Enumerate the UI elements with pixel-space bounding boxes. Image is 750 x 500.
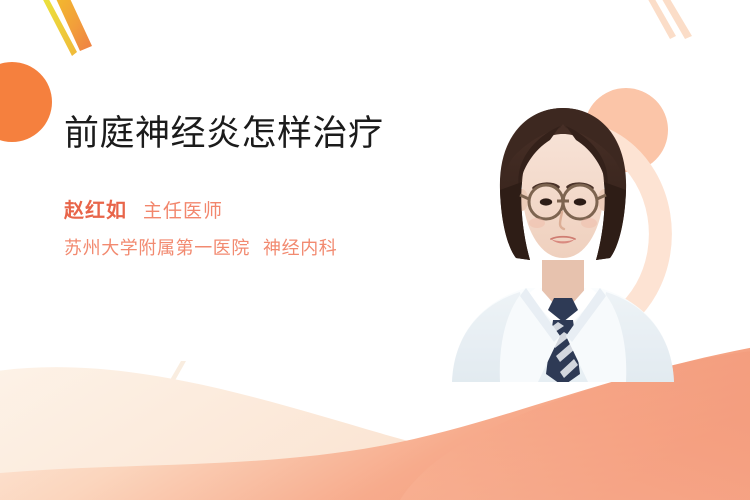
hospital-name: 苏州大学附属第一医院	[64, 234, 250, 260]
doctor-portrait-illustration	[438, 82, 688, 382]
doctor-portrait	[438, 82, 688, 382]
hospital-line: 苏州大学附属第一医院 神经内科	[64, 234, 424, 260]
top-right-peach-stripes-icon	[645, 0, 692, 39]
doctor-professional-title: 主任医师	[143, 196, 223, 223]
doctor-name: 赵红如	[64, 194, 127, 223]
text-block: 前庭神经炎怎样治疗 赵红如 主任医师 苏州大学附属第一医院 神经内科	[64, 112, 424, 260]
doctor-article-cover-card: 前庭神经炎怎样治疗 赵红如 主任医师 苏州大学附属第一医院 神经内科	[0, 0, 750, 500]
department-name: 神经内科	[263, 234, 337, 260]
left-orange-circle-icon	[0, 62, 52, 142]
page-title: 前庭神经炎怎样治疗	[64, 112, 424, 157]
doctor-line: 赵红如 主任医师	[64, 194, 424, 223]
